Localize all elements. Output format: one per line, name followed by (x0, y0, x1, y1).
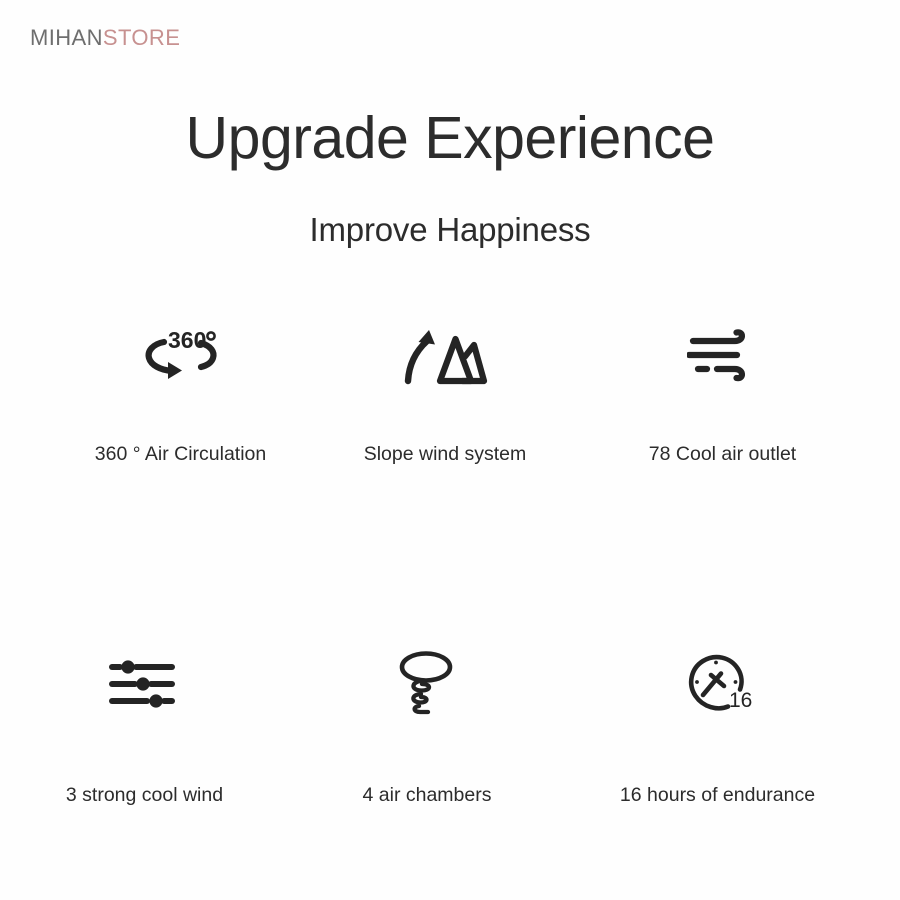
feature-label: Slope wind system (364, 443, 527, 466)
clock-timer-icon: 16 (681, 636, 755, 731)
feature-item: Slope wind system (323, 308, 568, 466)
page-subtitle: Improve Happiness (0, 212, 900, 248)
feature-row-2: 3 strong cool wind 4 air chambers (60, 636, 840, 807)
feature-item: 360 360 ° Air Circulation (58, 308, 303, 466)
feature-label: 360 ° Air Circulation (95, 443, 266, 466)
feature-label: 4 air chambers (363, 784, 492, 807)
feature-label: 16 hours of endurance (620, 784, 815, 807)
feature-item: 16 16 hours of endurance (595, 636, 840, 807)
feature-row-1: 360 360 ° Air Circulation (60, 308, 840, 466)
slope-wind-mountain-icon (402, 308, 488, 403)
wind-lines-icon (687, 308, 759, 403)
headings-block: Upgrade Experience Improve Happiness (0, 108, 900, 248)
feature-grid: 360 360 ° Air Circulation (60, 308, 840, 807)
brand-logo-secondary: STORE (103, 25, 180, 50)
feature-item: 4 air chambers (305, 636, 550, 807)
brand-logo: MIHANSTORE (30, 25, 180, 51)
feature-item: 78 Cool air outlet (600, 308, 845, 466)
svg-text:16: 16 (729, 689, 752, 712)
svg-text:360: 360 (168, 327, 206, 353)
360-rotation-icon: 360 (135, 308, 227, 403)
slider-levels-icon (108, 636, 182, 731)
feature-label: 3 strong cool wind (66, 784, 223, 807)
feature-item: 3 strong cool wind (22, 636, 267, 807)
brand-logo-primary: MIHAN (30, 25, 103, 50)
page-title: Upgrade Experience (0, 108, 900, 170)
feature-label: 78 Cool air outlet (649, 443, 796, 466)
vortex-spiral-icon (394, 636, 460, 731)
